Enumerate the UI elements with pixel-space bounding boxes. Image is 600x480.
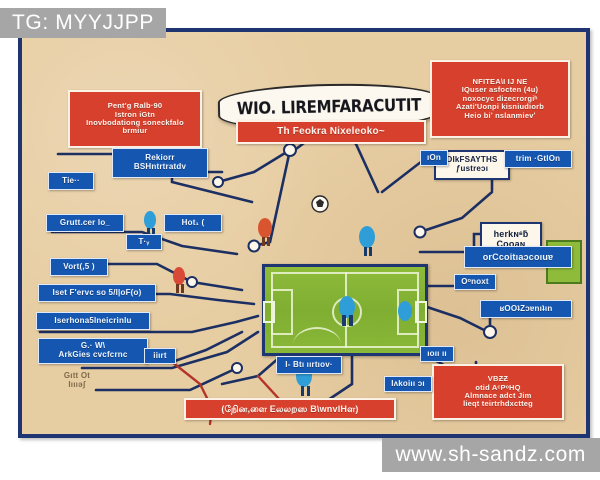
label-iset-text: Iset F'ervc so 5/l|oF(o) [53,289,142,298]
player-icon [173,267,185,293]
label-root-action-text: ʁOOʇZɔɐnıʇın [500,305,553,314]
label-left-edge-text: Tie·· [62,177,80,186]
label-upper-left[interactable]: Rekiorr BSHntrtratdv [112,148,208,178]
label-ton-left[interactable]: ıOn [420,150,448,166]
note-bottom-right: VBƵƵ otid AᶜPᵒHQ Almnace adct Jim lieqt … [432,364,564,420]
label-vort-text: Vort(,5 ) [63,263,94,272]
note-bottom-center: (நிேன,ளை Eலலறஸ B\wnvlHள) [184,398,396,420]
label-orccoi[interactable]: orCcoitıaɔcoıuɐ [464,246,572,268]
faint-label-geit: Gıtt Ot Iıııǝʃ [44,368,110,394]
label-pitch-caption[interactable]: I‑ Btı ıırtıov· [276,356,342,374]
label-iserhona[interactable]: Iserhona5lneicrinlu [36,312,150,330]
label-ion-ri[interactable]: ıoıı ıı [420,346,454,362]
label-left-edge[interactable]: Tie·· [48,172,94,190]
infographic-poster: WIO. LIREMFARACUTIT Th Feokra Nixeleoko~… [18,28,590,438]
soccer-ball-icon [312,196,328,212]
label-upper-left-text: Rekiorr BSHntrtratdv [134,154,186,172]
player-icon [359,226,375,256]
note-top-right-text: NFITEA\I IJ NE IQuser asfocten (4u) noxo… [456,78,544,120]
label-iibrt-text: iiırt [153,352,166,361]
label-iserhona-text: Iserhona5lneicrinlu [54,317,131,326]
label-grutt-text: Grutt.cer lo_ [60,219,110,228]
label-grutt[interactable]: Grutt.cer lo_ [46,214,124,232]
label-arkcies-text: G.· W\ ArkGies cvcfcrnc [58,342,127,360]
subtitle-text: Th Feokra Nixeleoko~ [277,126,385,137]
label-crim-action[interactable]: trim ·GtlOn [504,150,572,168]
label-oonoxt[interactable]: Oᵒnoxt [454,274,496,290]
label-ion-ri-text: ıoıı ıı [427,350,447,359]
note-top-left-text: Pent'g Ralb·90 Istron iGtn Inovbodationg… [86,102,184,136]
subtitle-bar: Th Feokra Nixeleoko~ [236,120,426,144]
watermark-bottom-right-text: www.sh-sandz.com [396,443,587,467]
screenshot-canvas: WIO. LIREMFARACUTIT Th Feokra Nixeleoko~… [0,0,600,480]
note-top-left: Pent'g Ralb·90 Istron iGtn Inovbodationg… [68,90,202,148]
label-lvorm[interactable]: Iʌkoiıı ɔı [384,376,432,392]
note-top-right: NFITEA\I IJ NE IQuser asfocten (4u) noxo… [430,60,570,138]
label-oonoxt-text: Oᵒnoxt [461,278,489,287]
label-lvorm-text: Iʌkoiıı ɔı [391,380,425,389]
label-root-action[interactable]: ʁOOʇZɔɐnıʇın [480,300,572,318]
faint-label-geit-text: Gıtt Ot Iıııǝʃ [64,372,90,390]
label-vort[interactable]: Vort(,5 ) [50,258,108,276]
player-icon [258,218,272,246]
box-difbrsntns-text: DIkFSAYTHS ƒustreɔı [446,156,497,174]
label-ton-left-text: ıOn [427,154,441,163]
note-bottom-right-text: VBƵƵ otid AᶜPᵒHQ Almnace adct Jim lieqt … [463,375,533,409]
label-tr-text: T·ᵧ [138,238,149,247]
watermark-bottom-right: www.sh-sandz.com [382,438,600,472]
label-iset[interactable]: Iset F'ervc so 5/l|oF(o) [38,284,156,302]
note-bottom-center-text: (நிேன,ளை Eலலறஸ B\wnvlHள) [221,404,358,414]
label-orccoi-text: orCcoitıaɔcoıuɐ [483,252,554,262]
label-hotz[interactable]: Hot₁ ( [164,214,222,232]
label-iibrt[interactable]: iiırt [144,348,176,364]
label-arkcies[interactable]: G.· W\ ArkGies cvcfcrnc [38,338,148,364]
label-pitch-caption-text: I‑ Btı ıırtıov· [285,361,332,370]
label-tr[interactable]: T·ᵧ [126,234,162,250]
label-crim-action-text: trim ·GtlOn [516,155,560,164]
label-hotz-text: Hot₁ ( [182,219,205,228]
